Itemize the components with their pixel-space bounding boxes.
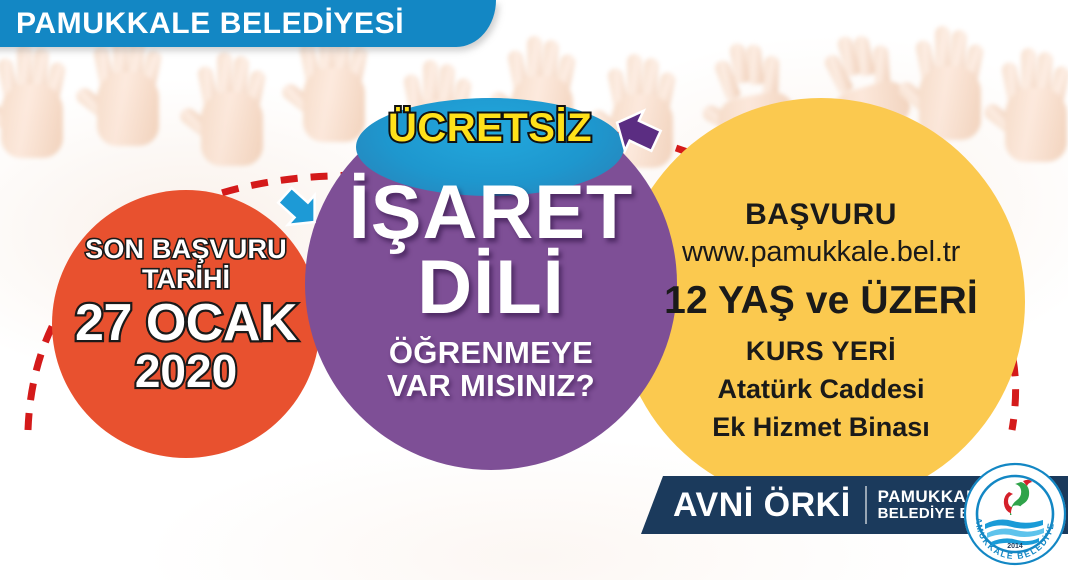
pamukkale-municipality-logo: 2014 PAMUKKALE BELEDİYESİ	[963, 462, 1067, 566]
header-bar: PAMUKKALE BELEDİYESİ	[0, 0, 496, 47]
venue-line1: Atatürk Caddesi	[637, 374, 1005, 405]
course-title-line1: İŞARET	[305, 177, 677, 249]
course-subtitle-line2: VAR MISINIZ?	[305, 371, 677, 400]
free-badge-label: ÜCRETSİZ	[356, 106, 624, 151]
apply-label: BAŞVURU	[637, 198, 1005, 232]
venue-label: KURS YERİ	[637, 336, 1005, 367]
course-title-line2: DİLİ	[305, 252, 677, 324]
poster-root: PAMUKKALE BELEDİYESİ SON BAŞVURU TARİHİ …	[0, 0, 1068, 580]
main-text-block: İŞARET DİLİ ÖĞRENMEYE VAR MISINIZ?	[305, 177, 677, 400]
age-requirement: 12 YAŞ ve ÜZERİ	[637, 279, 1005, 323]
course-subtitle-line1: ÖĞRENMEYE	[305, 338, 677, 367]
deadline-date: 27 OCAK	[52, 297, 320, 351]
website-url[interactable]: www.pamukkale.bel.tr	[637, 236, 1005, 269]
info-text-block: BAŞVURU www.pamukkale.bel.tr 12 YAŞ ve Ü…	[637, 198, 1005, 443]
deadline-text-block: SON BAŞVURU TARİHİ 27 OCAK 2020	[52, 236, 320, 396]
deadline-label-line1: SON BAŞVURU	[52, 236, 320, 264]
deadline-label-line2: TARİHİ	[52, 266, 320, 294]
logo-year: 2014	[1007, 543, 1023, 550]
page-title: PAMUKKALE BELEDİYESİ	[16, 7, 404, 41]
mayor-divider	[865, 486, 867, 524]
deadline-year: 2020	[52, 348, 320, 395]
mayor-name: AVNİ ÖRKİ	[673, 486, 851, 525]
venue-line2: Ek Hizmet Binası	[637, 412, 1005, 443]
